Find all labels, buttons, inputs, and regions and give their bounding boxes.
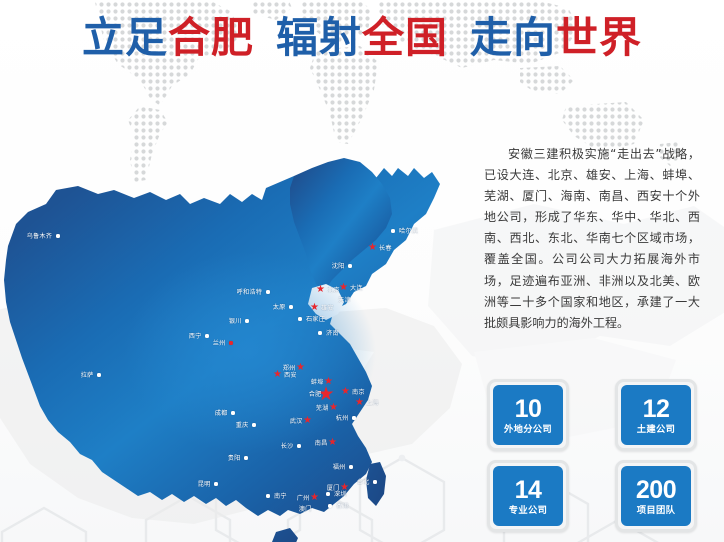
map-city-label-西安: 西安 bbox=[284, 372, 297, 379]
stat-card-2-body: 14 专业公司 bbox=[493, 466, 563, 526]
stat-card-2[interactable]: 14 专业公司 bbox=[487, 460, 569, 532]
page-title: 立足合肥辐射全国走向世界 bbox=[0, 14, 724, 62]
title-segment-2: 合肥 bbox=[168, 14, 254, 62]
statistics-grid: 10 外地分公司 12 土建公司 14 专业公司 200 项目团队 bbox=[487, 379, 697, 532]
map-city-label-大连: 大连 bbox=[350, 285, 363, 292]
map-city-label-南宁: 南宁 bbox=[274, 493, 287, 500]
map-marker-北京[interactable]: ★ bbox=[316, 285, 325, 295]
star-icon: ★ bbox=[329, 403, 338, 413]
star-icon: ★ bbox=[368, 243, 377, 253]
white-dot-icon bbox=[352, 416, 355, 419]
map-marker-贵阳[interactable] bbox=[244, 456, 247, 459]
star-icon: ★ bbox=[310, 303, 319, 313]
map-city-label-兰州: 兰州 bbox=[213, 340, 226, 347]
map-city-label-武汉: 武汉 bbox=[290, 418, 303, 425]
star-icon: ★ bbox=[355, 398, 364, 408]
star-icon: ★ bbox=[339, 283, 348, 293]
map-marker-西安[interactable]: ★ bbox=[273, 370, 282, 380]
star-icon: ★ bbox=[328, 438, 337, 448]
map-city-label-长春: 长春 bbox=[379, 245, 392, 252]
map-city-label-深圳: 深圳 bbox=[334, 491, 347, 498]
white-dot-icon bbox=[391, 229, 394, 232]
white-dot-icon bbox=[245, 319, 248, 322]
map-marker-乌鲁木齐[interactable] bbox=[56, 234, 59, 237]
map-marker-上海[interactable]: ★ bbox=[355, 398, 364, 408]
map-city-label-昆明: 昆明 bbox=[198, 481, 211, 488]
star-icon: ★ bbox=[296, 363, 305, 373]
map-city-label-太原: 太原 bbox=[273, 304, 286, 311]
white-dot-icon bbox=[252, 423, 255, 426]
map-marker-福州[interactable] bbox=[349, 465, 352, 468]
stat-card-3[interactable]: 200 项目团队 bbox=[615, 460, 697, 532]
map-marker-呼和浩特[interactable] bbox=[266, 290, 269, 293]
map-city-label-银川: 银川 bbox=[229, 318, 242, 325]
white-dot-icon bbox=[289, 305, 292, 308]
map-city-label-贵阳: 贵阳 bbox=[228, 455, 241, 462]
map-marker-武汉[interactable]: ★ bbox=[303, 416, 312, 426]
title-segment-1: 立足 bbox=[82, 14, 168, 62]
stat-card-2-number: 14 bbox=[515, 477, 542, 503]
star-icon: ★ bbox=[273, 370, 282, 380]
map-marker-石家庄[interactable] bbox=[298, 317, 301, 320]
white-dot-icon bbox=[266, 494, 269, 497]
map-marker-台北[interactable] bbox=[373, 480, 376, 483]
white-dot-icon bbox=[328, 504, 331, 507]
map-city-label-福州: 福州 bbox=[333, 464, 346, 471]
map-city-label-澳门: 澳门 bbox=[299, 506, 312, 513]
map-city-label-南昌: 南昌 bbox=[315, 440, 328, 447]
white-dot-icon bbox=[97, 373, 100, 376]
map-city-label-哈尔滨: 哈尔滨 bbox=[399, 228, 418, 235]
map-city-label-长沙: 长沙 bbox=[281, 443, 294, 450]
red-dot-icon bbox=[229, 341, 232, 344]
white-dot-icon bbox=[205, 334, 208, 337]
title-segment-5: 走向 bbox=[470, 14, 556, 62]
star-icon: ★ bbox=[316, 285, 325, 295]
map-marker-杭州[interactable] bbox=[352, 416, 355, 419]
map-city-label-香港: 香港 bbox=[336, 503, 349, 510]
stat-card-3-number: 200 bbox=[636, 477, 676, 503]
white-dot-icon bbox=[214, 482, 217, 485]
map-marker-香港[interactable] bbox=[328, 504, 331, 507]
map-marker-芜湖[interactable]: ★ bbox=[329, 403, 338, 413]
map-city-label-合肥: 合肥 bbox=[309, 391, 322, 398]
china-map-shape bbox=[0, 128, 464, 542]
map-city-label-台北: 台北 bbox=[357, 479, 370, 486]
map-marker-兰州[interactable] bbox=[229, 341, 232, 344]
map-city-label-南京: 南京 bbox=[352, 389, 365, 396]
stat-card-2-caption: 专业公司 bbox=[509, 505, 547, 516]
white-dot-icon bbox=[326, 492, 329, 495]
white-dot-icon bbox=[298, 317, 301, 320]
stat-card-0-body: 10 外地分公司 bbox=[493, 385, 563, 445]
map-city-label-重庆: 重庆 bbox=[236, 422, 249, 429]
white-dot-icon bbox=[231, 411, 234, 414]
map-marker-郑州[interactable]: ★ bbox=[296, 363, 305, 373]
white-dot-icon bbox=[244, 456, 247, 459]
title-segment-4: 全国 bbox=[362, 14, 448, 62]
map-city-label-郑州: 郑州 bbox=[283, 365, 296, 372]
map-marker-重庆[interactable] bbox=[252, 423, 255, 426]
map-city-label-芜湖: 芜湖 bbox=[316, 405, 329, 412]
white-dot-icon bbox=[56, 234, 59, 237]
map-marker-深圳[interactable] bbox=[326, 492, 329, 495]
map-city-label-杭州: 杭州 bbox=[336, 415, 349, 422]
map-city-label-北京: 北京 bbox=[327, 287, 340, 294]
title-segment-3: 辐射 bbox=[276, 14, 362, 62]
map-marker-哈尔滨[interactable] bbox=[391, 229, 394, 232]
stat-card-0-caption: 外地分公司 bbox=[504, 424, 552, 435]
map-marker-南宁[interactable] bbox=[266, 494, 269, 497]
map-marker-广州[interactable]: ★ bbox=[310, 493, 319, 503]
map-marker-拉萨[interactable] bbox=[97, 373, 100, 376]
star-icon: ★ bbox=[341, 387, 350, 397]
white-dot-icon bbox=[266, 290, 269, 293]
map-city-label-天津: 天津 bbox=[338, 297, 351, 304]
star-icon: ★ bbox=[310, 493, 319, 503]
white-dot-icon bbox=[348, 264, 351, 267]
map-city-label-乌鲁木齐: 乌鲁木齐 bbox=[27, 233, 53, 240]
white-dot-icon bbox=[297, 444, 300, 447]
white-dot-icon bbox=[349, 465, 352, 468]
star-icon: ★ bbox=[303, 416, 312, 426]
white-dot-icon bbox=[318, 331, 321, 334]
stat-card-3-body: 200 项目团队 bbox=[621, 466, 691, 526]
company-description-paragraph: 安徽三建积极实施“走出去”战略，已设大连、北京、雄安、上海、蚌埠、芜湖、厦门、海… bbox=[484, 144, 700, 334]
stat-card-3-caption: 项目团队 bbox=[637, 505, 675, 516]
map-city-label-成都: 成都 bbox=[215, 410, 228, 417]
slide-canvas: 立足合肥辐射全国走向世界 bbox=[0, 0, 724, 542]
stat-card-1-number: 12 bbox=[643, 396, 670, 422]
map-city-label-西宁: 西宁 bbox=[189, 333, 202, 340]
stat-card-1-caption: 土建公司 bbox=[637, 424, 675, 435]
map-marker-昆明[interactable] bbox=[214, 482, 217, 485]
map-marker-南京[interactable]: ★ bbox=[341, 387, 350, 397]
map-city-label-雄安: 雄安 bbox=[321, 305, 334, 312]
map-marker-太原[interactable] bbox=[289, 305, 292, 308]
china-map[interactable]: 乌鲁木齐拉萨哈尔滨★长春沈阳★大连呼和浩特★北京天津太原★雄安石家庄银川济南西宁… bbox=[0, 128, 464, 542]
map-marker-长春[interactable]: ★ bbox=[368, 243, 377, 253]
stat-card-1[interactable]: 12 土建公司 bbox=[615, 379, 697, 451]
map-marker-西宁[interactable] bbox=[205, 334, 208, 337]
map-city-label-上海: 上海 bbox=[366, 400, 379, 407]
map-marker-雄安[interactable]: ★ bbox=[310, 303, 319, 313]
map-marker-南昌[interactable]: ★ bbox=[328, 438, 337, 448]
map-marker-沈阳[interactable] bbox=[348, 264, 351, 267]
map-marker-大连[interactable]: ★ bbox=[339, 283, 348, 293]
map-city-label-广州: 广州 bbox=[297, 495, 310, 502]
map-city-label-济南: 济南 bbox=[326, 330, 339, 337]
map-city-label-呼和浩特: 呼和浩特 bbox=[237, 289, 263, 296]
map-city-label-沈阳: 沈阳 bbox=[332, 263, 345, 270]
map-marker-长沙[interactable] bbox=[297, 444, 300, 447]
map-marker-济南[interactable] bbox=[318, 331, 321, 334]
map-city-label-拉萨: 拉萨 bbox=[81, 372, 94, 379]
map-marker-成都[interactable] bbox=[231, 411, 234, 414]
map-city-label-石家庄: 石家庄 bbox=[306, 316, 325, 323]
title-segment-6: 世界 bbox=[556, 14, 642, 62]
stat-card-1-body: 12 土建公司 bbox=[621, 385, 691, 445]
white-dot-icon bbox=[373, 480, 376, 483]
stat-card-0-number: 10 bbox=[515, 396, 542, 422]
stat-card-0[interactable]: 10 外地分公司 bbox=[487, 379, 569, 451]
map-marker-银川[interactable] bbox=[245, 319, 248, 322]
